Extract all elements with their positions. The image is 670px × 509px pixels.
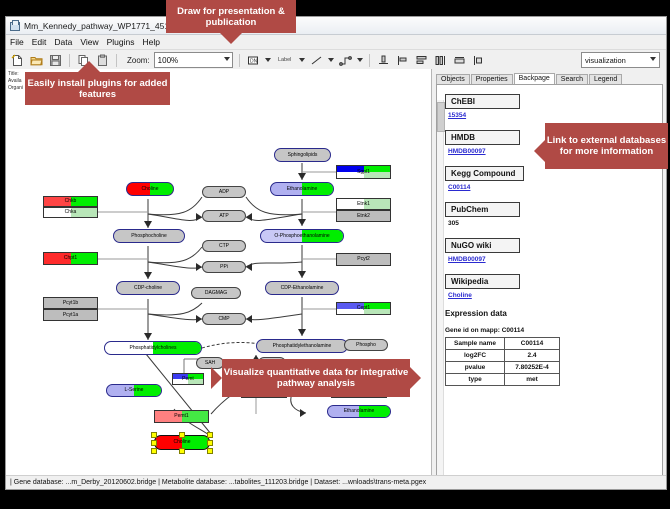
table-row: type met <box>446 374 560 386</box>
backpage-vscrollbar[interactable] <box>437 100 444 483</box>
node-label: Choline <box>142 187 159 192</box>
svg-text:DN: DN <box>250 58 258 64</box>
same-width-icon[interactable] <box>433 53 448 68</box>
node-label: CMP <box>218 317 229 322</box>
table-row: pvalue 7.80252E-4 <box>446 362 560 374</box>
node-ppi[interactable]: PPi <box>202 261 246 273</box>
pathway-info: Title: Availa Organi <box>8 71 23 92</box>
callout-visualize-arrow-right <box>410 367 421 389</box>
window-titlebar: Mm_Kennedy_pathway_WP1771_45176.gpml <box>6 17 666 35</box>
callout-visualize-text: Visualize quantitative data for integrat… <box>222 367 410 389</box>
gene-chka[interactable]: Chka <box>43 207 98 218</box>
gene-pcyt1b[interactable]: Pcyt1b <box>43 297 98 309</box>
backpage-value-pubchem: 305 <box>448 220 658 227</box>
expression-value: 7.80252E-4 <box>505 362 560 374</box>
expression-value: C00114 <box>505 338 560 350</box>
line-icon[interactable] <box>309 53 324 68</box>
align-left-icon[interactable] <box>395 53 410 68</box>
node-label: Phosphocholine <box>131 234 167 239</box>
node-l-serine-left[interactable]: L-Serine <box>106 384 162 397</box>
node-ethanolamine-bottom[interactable]: Ethanolamine <box>327 405 391 418</box>
node-label: SAH <box>205 361 215 366</box>
node-choline-top[interactable]: Choline <box>126 182 174 196</box>
chevron-down-icon <box>650 57 656 61</box>
backpage-header-kegg: Kegg Compound <box>445 166 524 181</box>
expression-key: Sample name <box>446 338 505 350</box>
save-icon[interactable] <box>48 53 63 68</box>
pathway-info-organism: Organi <box>8 85 23 92</box>
group-icon[interactable] <box>452 53 467 68</box>
pathway-info-availability: Availa <box>8 78 23 85</box>
statusbar-text: | Gene database: ...m_Derby_20120602.bri… <box>10 479 426 486</box>
node-label: Pcyt2 <box>357 257 370 262</box>
toolbar-separator <box>369 54 370 67</box>
pathway-info-title: Title: <box>8 71 23 78</box>
expression-key: type <box>446 374 505 386</box>
callout-draw: Draw for presentation & publication <box>166 0 296 33</box>
node-label: Etnk1 <box>357 202 370 207</box>
app-icon <box>9 20 20 31</box>
chevron-down-icon[interactable] <box>328 58 334 62</box>
gene-pemt1[interactable]: Pemt1 <box>154 410 209 423</box>
menu-help[interactable]: Help <box>143 37 160 47</box>
callout-links-text: Link to external databases for more info… <box>545 135 668 157</box>
callout-draw-text: Draw for presentation & publication <box>166 6 296 28</box>
statusbar: | Gene database: ...m_Derby_20120602.bri… <box>6 475 666 489</box>
tab-search[interactable]: Search <box>556 74 588 84</box>
connector-icon[interactable] <box>338 53 353 68</box>
distribute-icon[interactable] <box>414 53 429 68</box>
expression-data-title: Expression data <box>445 309 658 318</box>
visualization-select[interactable]: visualization <box>581 52 660 68</box>
toolbar-separator <box>239 54 240 67</box>
gene-pcyt1a[interactable]: Pcyt1a <box>43 309 98 321</box>
node-adp[interactable]: ADP <box>202 186 246 198</box>
node-ethanolamine-top[interactable]: Ethanolamine <box>270 182 334 196</box>
chevron-down-icon[interactable] <box>357 58 363 62</box>
zoom-value: 100% <box>158 56 178 65</box>
open-folder-icon[interactable] <box>29 53 44 68</box>
node-label: Pcyt1b <box>63 301 78 306</box>
node-label: Ethanolamine <box>287 187 318 192</box>
node-label: CTP <box>219 244 229 249</box>
table-row: log2FC 2.4 <box>446 350 560 362</box>
node-cmp[interactable]: CMP <box>202 313 246 325</box>
gene-cept1[interactable]: Cept1 <box>336 302 391 315</box>
node-phosphatidylcholines[interactable]: Phosphatidylcholines <box>104 341 202 355</box>
zoom-select[interactable]: 100% <box>154 52 233 68</box>
new-file-icon[interactable] <box>10 53 25 68</box>
menubar: File Edit Data View Plugins Help <box>6 35 666 50</box>
toolbar: Zoom: 100% DN Label <box>6 50 666 71</box>
label-icon[interactable]: Label <box>275 53 295 68</box>
node-phosphocholine[interactable]: Phosphocholine <box>113 229 185 243</box>
toolbar-separator <box>69 54 70 67</box>
node-label: Phosphatidylethanolamine <box>273 344 332 349</box>
node-label: Phosphatidylcholines <box>130 346 177 351</box>
node-o-phosphoethanolamine[interactable]: O-Phosphoethanolamine <box>260 229 344 243</box>
node-label: Chka <box>65 210 77 215</box>
node-label: DAGMAG <box>205 291 227 296</box>
node-dagmag[interactable]: DAGMAG <box>191 287 241 299</box>
node-label: PPi <box>220 265 228 270</box>
gene-id-line: Gene id on mapp: C00114 <box>445 327 658 334</box>
backpage-header-wikipedia: Wikipedia <box>445 274 520 289</box>
toolbar-separator <box>116 54 117 67</box>
node-label: Etnk2 <box>357 214 370 219</box>
node-label: Cept1 <box>357 306 370 311</box>
node-label: O-Phosphoethanolamine <box>274 234 329 239</box>
gene-sgpl1[interactable]: Sgpl1 <box>336 165 391 179</box>
side-panel-tabs: Objects Properties Backpage Search Legen… <box>432 71 666 84</box>
menu-edit[interactable]: Edit <box>32 37 47 47</box>
menu-data[interactable]: Data <box>54 37 72 47</box>
gene-etnk2[interactable]: Etnk2 <box>336 210 391 222</box>
node-label: Chkb <box>65 199 77 204</box>
node-label: Pcyt1a <box>63 313 78 318</box>
node-label: Chpt1 <box>64 256 77 261</box>
node-ctp[interactable]: CTP <box>202 240 246 252</box>
node-cdp-choline[interactable]: CDP-choline <box>116 281 180 295</box>
scroll-thumb[interactable] <box>437 102 445 132</box>
node-label: L-Serine <box>125 388 144 393</box>
backpage-header-chebi: ChEBI <box>445 94 520 109</box>
callout-plugins: Easily install plugins for added feature… <box>25 72 170 105</box>
gene-chkb[interactable]: Chkb <box>43 196 98 207</box>
gene-pemt[interactable]: Pemt <box>172 373 204 385</box>
callout-plugins-arrow <box>78 61 100 72</box>
backpage-header-nugo: NuGO wiki <box>445 238 520 253</box>
align-top-icon[interactable] <box>376 53 391 68</box>
node-label: Phospho <box>356 343 376 348</box>
visualization-value: visualization <box>585 56 626 65</box>
pathway-canvas[interactable]: Title: Availa Organi <box>6 69 431 475</box>
zoom-label: Zoom: <box>127 56 150 65</box>
node-sphingolipids[interactable]: Sphingolipids <box>274 148 331 162</box>
node-label: ADP <box>219 190 229 195</box>
menu-file[interactable]: File <box>10 37 24 47</box>
callout-links: Link to external databases for more info… <box>545 123 668 169</box>
gene-chpt1[interactable]: Chpt1 <box>43 252 98 265</box>
chevron-down-icon[interactable] <box>265 58 271 62</box>
menu-view[interactable]: View <box>80 37 98 47</box>
backpage-header-pubchem: PubChem <box>445 202 520 217</box>
expression-value: met <box>505 374 560 386</box>
callout-draw-arrow <box>220 33 242 44</box>
node-cdp-ethanolamine[interactable]: CDP-Ethanolamine <box>265 281 339 295</box>
backpage-header-hmdb: HMDB <box>445 130 520 145</box>
datanode-icon[interactable]: DN <box>246 53 261 68</box>
node-label: Ethanolamine <box>344 409 375 414</box>
tab-backpage[interactable]: Backpage <box>514 73 555 84</box>
chevron-down-icon[interactable] <box>299 58 305 62</box>
node-label: Sgpl1 <box>357 170 370 175</box>
pathway-canvas-wrapper: Title: Availa Organi <box>6 69 432 489</box>
gene-pcyt2[interactable]: Pcyt2 <box>336 253 391 266</box>
expression-key: log2FC <box>446 350 505 362</box>
tab-properties[interactable]: Properties <box>471 74 513 84</box>
tab-objects[interactable]: Objects <box>436 74 470 84</box>
order-icon[interactable] <box>471 53 486 68</box>
expression-key: pvalue <box>446 362 505 374</box>
node-label: Choline <box>174 440 191 445</box>
backpage-link-chebi[interactable]: 15354 <box>448 112 658 119</box>
callout-visualize: Visualize quantitative data for integrat… <box>222 359 410 397</box>
node-label: Pemt <box>182 377 194 382</box>
node-atp-1[interactable]: ATP <box>202 210 246 222</box>
node-label: Sphingolipids <box>288 153 318 158</box>
callout-visualize-arrow <box>211 367 222 389</box>
node-label: CDP-choline <box>134 286 162 291</box>
node-label: ATP <box>219 214 228 219</box>
callout-links-arrow <box>534 140 545 162</box>
callout-plugins-text: Easily install plugins for added feature… <box>25 78 170 100</box>
table-row: Sample name C00114 <box>446 338 560 350</box>
node-phospho[interactable]: Phospho <box>344 339 388 351</box>
node-label: CDP-Ethanolamine <box>281 286 324 291</box>
expression-value: 2.4 <box>505 350 560 362</box>
expression-table: Sample name C00114 log2FC 2.4 pvalue 7.8… <box>445 337 560 386</box>
backpage-link-nugo[interactable]: HMDB00097 <box>448 256 658 263</box>
node-label: Pemt1 <box>174 414 188 419</box>
backpage-link-wikipedia[interactable]: Choline <box>448 292 658 299</box>
backpage-link-kegg[interactable]: C00114 <box>448 184 658 191</box>
chevron-down-icon <box>224 57 230 61</box>
menu-plugins[interactable]: Plugins <box>107 37 135 47</box>
node-phosphatidylethanolamine[interactable]: Phosphatidylethanolamine <box>256 339 348 353</box>
gene-etnk1[interactable]: Etnk1 <box>336 198 391 210</box>
tab-legend[interactable]: Legend <box>589 74 622 84</box>
